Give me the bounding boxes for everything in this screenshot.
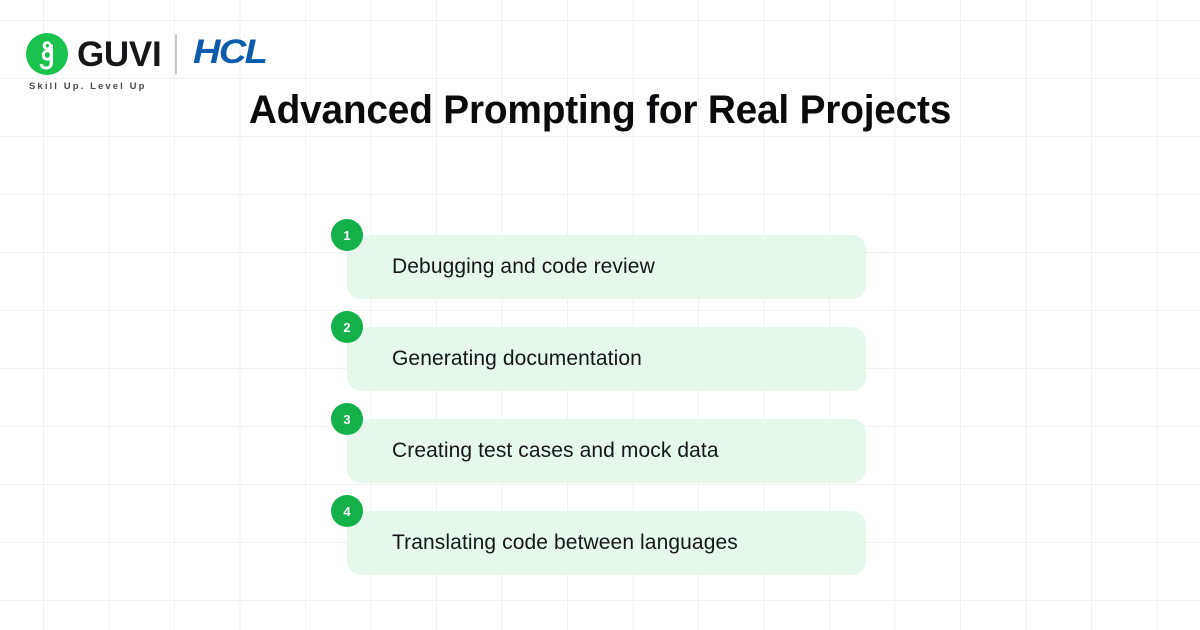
list-item-card: Creating test cases and mock data (347, 419, 866, 483)
guvi-wordmark: GUVI (77, 37, 161, 72)
list-item: Generating documentation 2 (331, 311, 891, 403)
list-item-label: Debugging and code review (347, 255, 655, 279)
list-item-label: Generating documentation (347, 347, 642, 371)
list-item: Translating code between languages 4 (331, 495, 891, 587)
list-item-number-badge: 1 (331, 219, 363, 251)
list-item-number-badge: 4 (331, 495, 363, 527)
guvi-logo: GUVI Skill Up. Level Up (26, 33, 161, 92)
list-item-label: Translating code between languages (347, 531, 738, 555)
list-item-label: Creating test cases and mock data (347, 439, 719, 463)
list-item: Creating test cases and mock data 3 (331, 403, 891, 495)
topic-list: Debugging and code review 1 Generating d… (331, 219, 891, 587)
list-item-number-badge: 2 (331, 311, 363, 343)
page-title: Advanced Prompting for Real Projects (18, 88, 1182, 132)
list-item-card: Debugging and code review (347, 235, 866, 299)
guvi-logo-row: GUVI (26, 33, 161, 75)
guvi-circle-logo-icon (26, 33, 68, 75)
list-item-card: Generating documentation (347, 327, 866, 391)
list-item-card: Translating code between languages (347, 511, 866, 575)
logo-divider (175, 34, 177, 74)
hcl-wordmark: HCL (193, 35, 266, 69)
list-item: Debugging and code review 1 (331, 219, 891, 311)
list-item-number-badge: 3 (331, 403, 363, 435)
brand-logo-lockup: GUVI Skill Up. Level Up HCL (26, 33, 258, 92)
